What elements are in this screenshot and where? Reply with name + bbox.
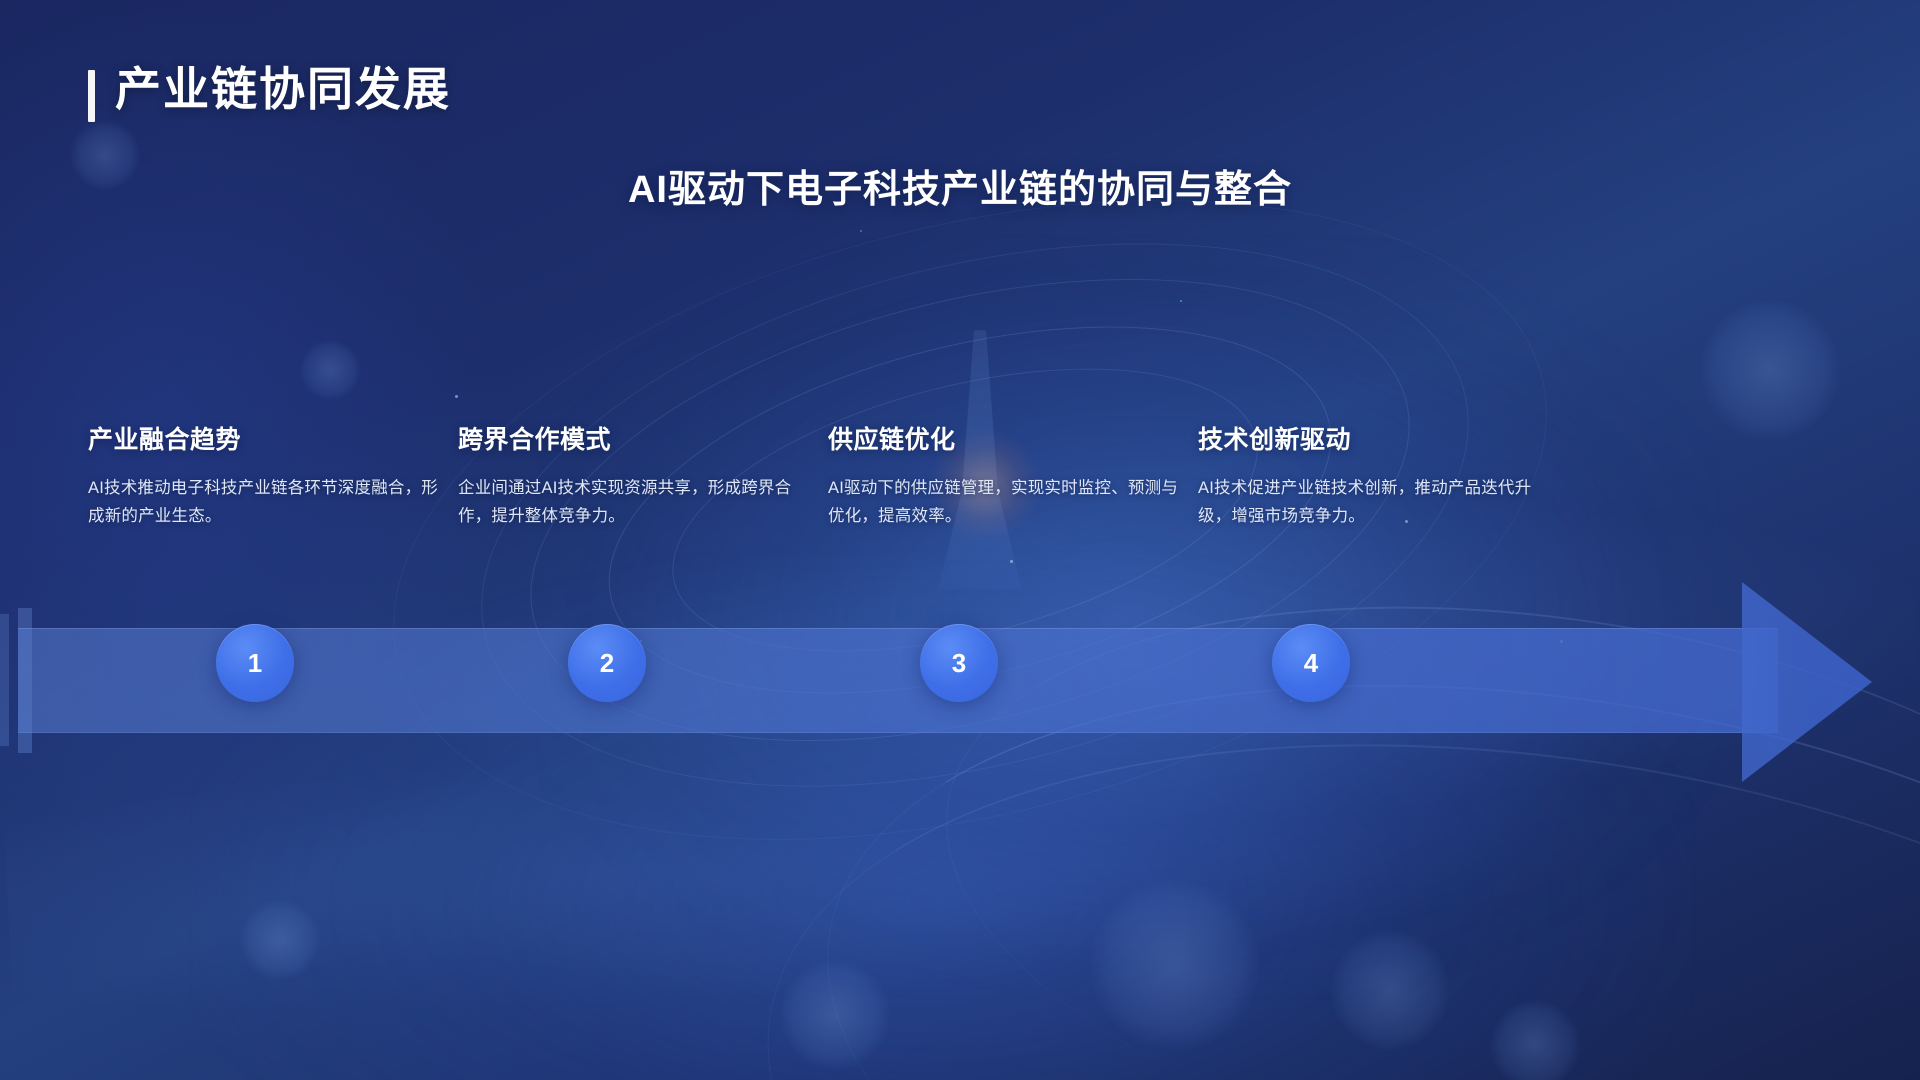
timeline-step-4[interactable]: 4: [1272, 624, 1350, 702]
slide-root: 产业链协同发展 AI驱动下电子科技产业链的协同与整合 产业融合趋势 AI技术推动…: [0, 0, 1920, 1080]
timeline-step-2[interactable]: 2: [568, 624, 646, 702]
feature-card-description: AI技术推动电子科技产业链各环节深度融合，形成新的产业生态。: [88, 474, 440, 531]
process-arrow-timeline: 1 2 3 4: [0, 590, 1920, 780]
title-text: 产业链协同发展: [115, 62, 451, 117]
timeline-step-3[interactable]: 3: [920, 624, 998, 702]
timeline-step-1[interactable]: 1: [216, 624, 294, 702]
arrow-tail-segment: [0, 614, 9, 746]
feature-card-list: 产业融合趋势 AI技术推动电子科技产业链各环节深度融合，形成新的产业生态。 跨界…: [88, 420, 1848, 531]
title-accent-bar: [88, 70, 95, 122]
arrow-head-icon: [1742, 582, 1872, 782]
page-title: 产业链协同发展: [88, 62, 451, 122]
feature-card: 跨界合作模式 企业间通过AI技术实现资源共享，形成跨界合作，提升整体竞争力。: [458, 420, 810, 531]
feature-card: 供应链优化 AI驱动下的供应链管理，实现实时监控、预测与优化，提高效率。: [828, 420, 1180, 531]
feature-card-title: 技术创新驱动: [1198, 420, 1550, 456]
feature-card-description: AI技术促进产业链技术创新，推动产品迭代升级，增强市场竞争力。: [1198, 474, 1550, 531]
feature-card-description: AI驱动下的供应链管理，实现实时监控、预测与优化，提高效率。: [828, 474, 1180, 531]
page-subtitle: AI驱动下电子科技产业链的协同与整合: [0, 158, 1920, 213]
feature-card-title: 产业融合趋势: [88, 420, 440, 456]
feature-card-title: 供应链优化: [828, 420, 1180, 456]
feature-card: 产业融合趋势 AI技术推动电子科技产业链各环节深度融合，形成新的产业生态。: [88, 420, 440, 531]
feature-card: 技术创新驱动 AI技术促进产业链技术创新，推动产品迭代升级，增强市场竞争力。: [1198, 420, 1550, 531]
feature-card-title: 跨界合作模式: [458, 420, 810, 456]
feature-card-description: 企业间通过AI技术实现资源共享，形成跨界合作，提升整体竞争力。: [458, 474, 810, 531]
